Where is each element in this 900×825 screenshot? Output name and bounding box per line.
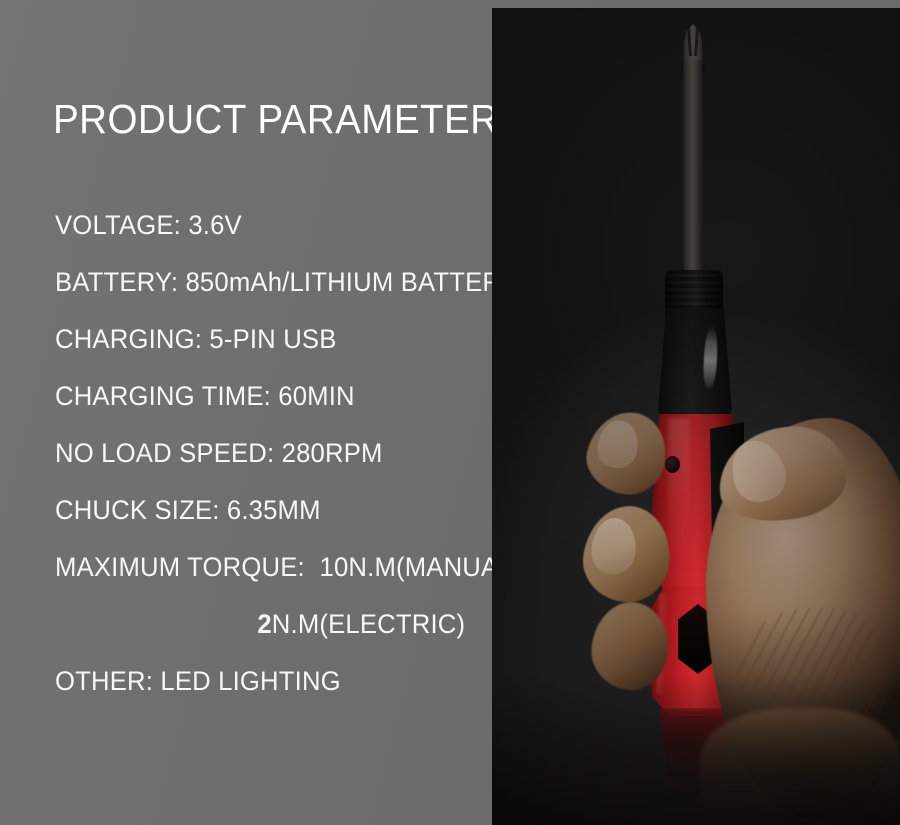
spec-item-chuck-size: CHUCK SIZE: 6.35MM: [55, 495, 464, 552]
torque-electric-value: 2: [257, 609, 271, 639]
spec-item-voltage: VOLTAGE: 3.6V: [55, 210, 464, 267]
product-photo: [492, 8, 900, 825]
spec-panel: PRODUCT PARAMETERS VOLTAGE: 3.6V BATTERY…: [0, 0, 492, 825]
torque-electric-unit: N.M(ELECTRIC): [272, 609, 465, 639]
spec-item-charging: CHARGING: 5-PIN USB: [55, 324, 464, 381]
spec-item-battery: BATTERY: 850mAh/LITHIUM BATTERY: [55, 267, 464, 324]
product-parameters-graphic: PRODUCT PARAMETERS VOLTAGE: 3.6V BATTERY…: [0, 0, 900, 825]
spec-item-charging-time: CHARGING TIME: 60MIN: [55, 381, 464, 438]
bottom-shadow-gradient: [492, 675, 900, 825]
spec-item-other: OTHER: LED LIGHTING: [55, 666, 464, 723]
spec-item-no-load-speed: NO LOAD SPEED: 280RPM: [55, 438, 464, 495]
spec-item-maximum-torque-electric: 2N.M(ELECTRIC): [55, 609, 464, 666]
spec-list: VOLTAGE: 3.6V BATTERY: 850mAh/LITHIUM BA…: [55, 210, 485, 723]
spec-item-maximum-torque-manual: MAXIMUM TORQUE: 10N.M(MANUAL): [55, 552, 464, 609]
page-title: PRODUCT PARAMETERS: [53, 96, 525, 143]
